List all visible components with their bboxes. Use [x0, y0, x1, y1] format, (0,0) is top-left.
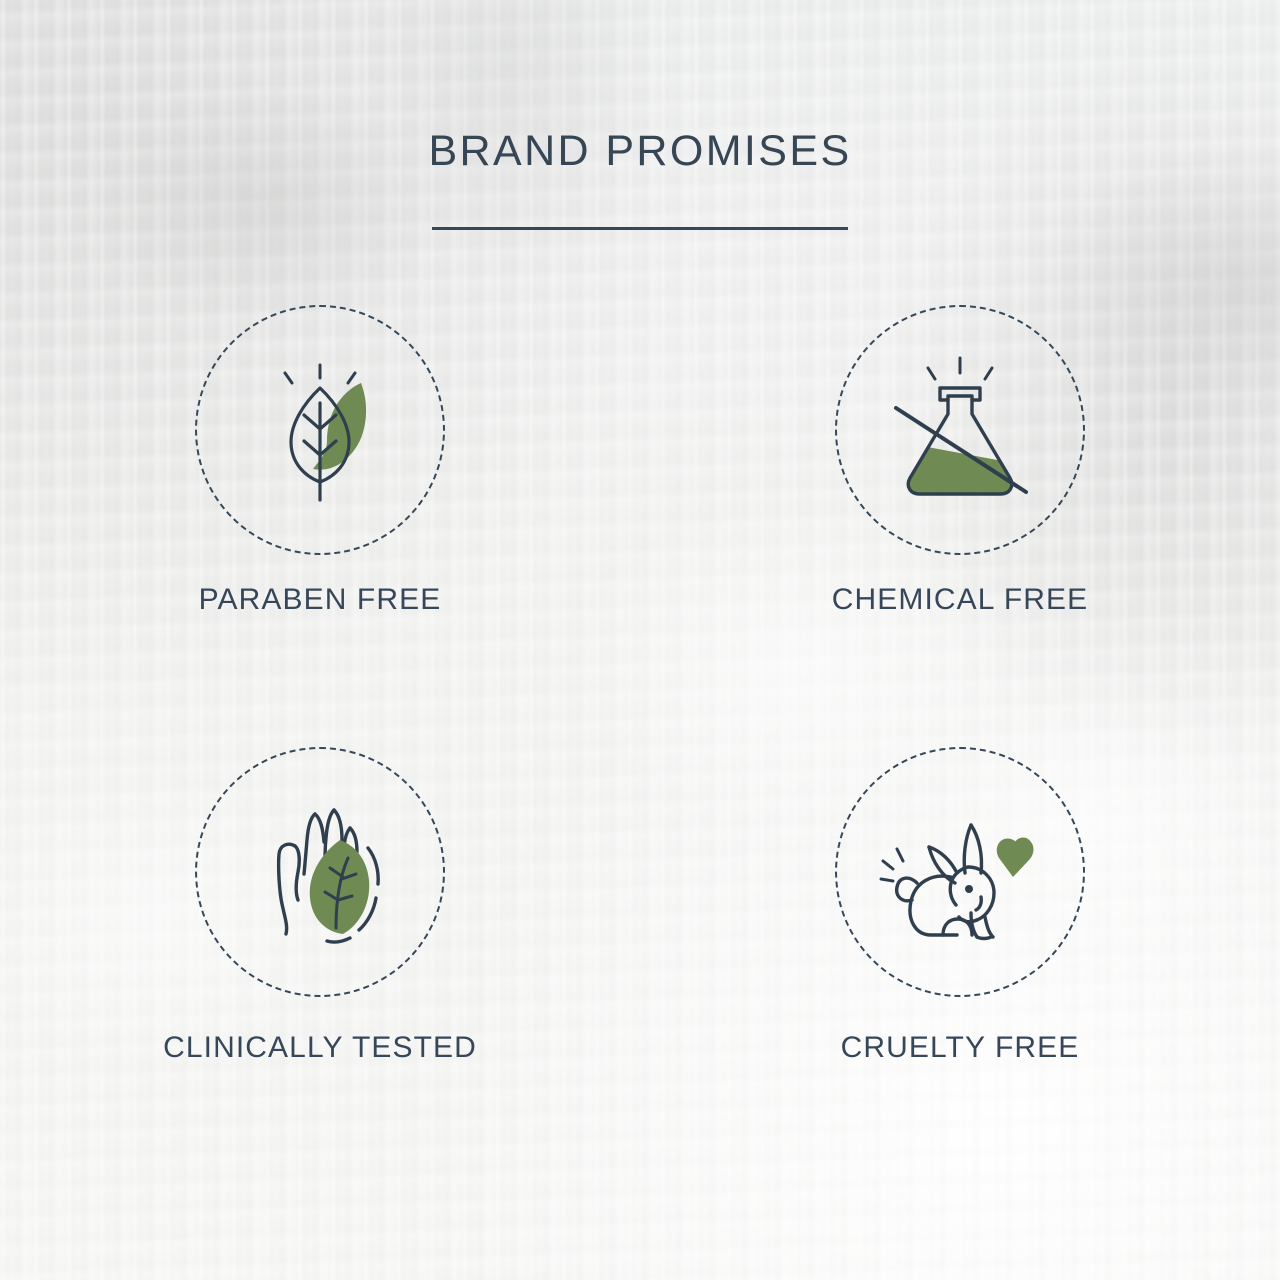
hand-leaf-icon: [230, 782, 410, 962]
promise-label-clinically-tested: CLINICALLY TESTED: [163, 1031, 477, 1065]
icon-circle-clinically-tested: [195, 747, 445, 997]
no-chemicals-flask-icon: [870, 340, 1050, 520]
promise-grid: PARABEN FREE: [0, 305, 1280, 1189]
title-divider: [432, 227, 848, 230]
icon-circle-chemical-free: [835, 305, 1085, 555]
promise-item-cruelty-free[interactable]: CRUELTY FREE: [740, 747, 1180, 1189]
brand-promises-poster: BRAND PROMISES: [0, 0, 1280, 1280]
icon-circle-paraben-free: [195, 305, 445, 555]
leaf-icon: [235, 345, 405, 515]
rabbit-heart-icon: [865, 777, 1055, 967]
promise-label-chemical-free: CHEMICAL FREE: [832, 583, 1089, 617]
promise-item-chemical-free[interactable]: CHEMICAL FREE: [740, 305, 1180, 747]
promise-label-cruelty-free: CRUELTY FREE: [841, 1031, 1080, 1065]
promise-item-paraben-free[interactable]: PARABEN FREE: [100, 305, 540, 747]
page-title: BRAND PROMISES: [0, 130, 1280, 173]
promise-label-paraben-free: PARABEN FREE: [199, 583, 442, 617]
promise-item-clinically-tested[interactable]: CLINICALLY TESTED: [100, 747, 540, 1189]
icon-circle-cruelty-free: [835, 747, 1085, 997]
header: BRAND PROMISES: [0, 130, 1280, 230]
